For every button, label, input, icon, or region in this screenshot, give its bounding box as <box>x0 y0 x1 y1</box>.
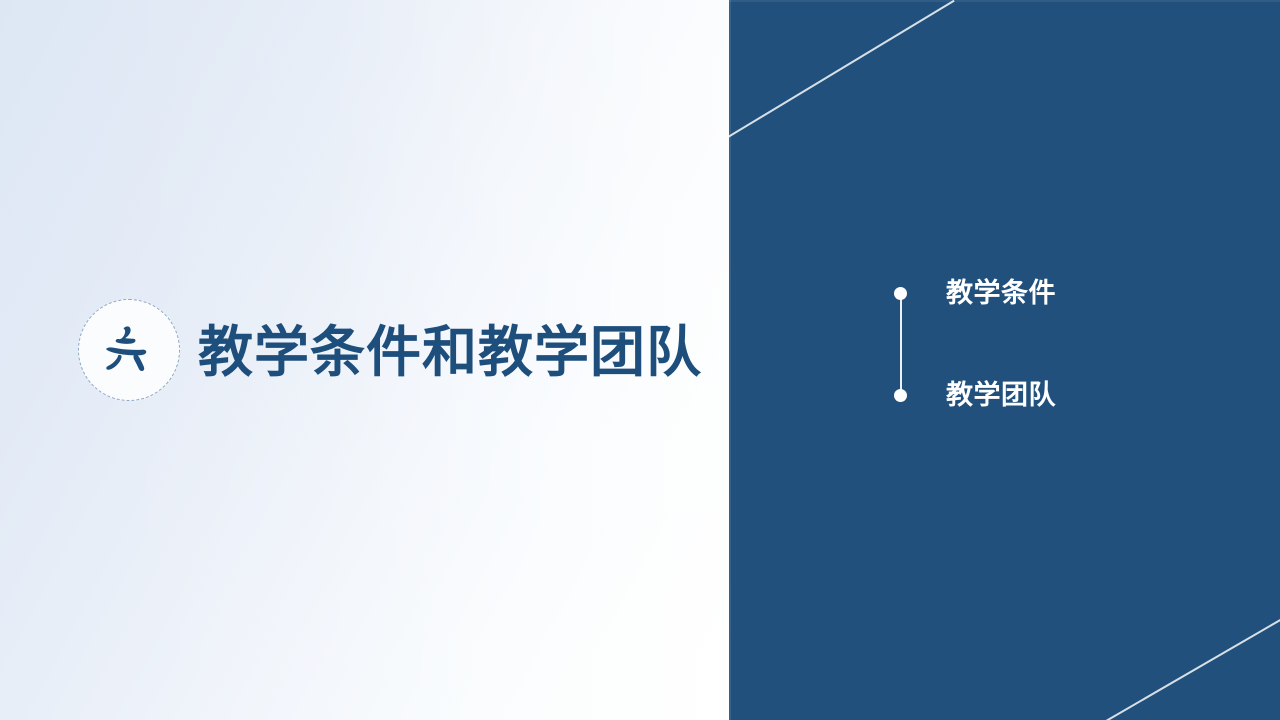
right-agenda-panel: 教学条件 教学团队 <box>729 0 1280 720</box>
bullet-dot-icon <box>894 389 907 402</box>
slide-canvas: 教学条件和教学团队 教学条件 教学团队 <box>0 0 1280 720</box>
agenda-item-label: 教学团队 <box>946 382 1056 409</box>
panel-left-edge-highlight <box>729 0 731 720</box>
section-number-badge <box>78 299 180 401</box>
bullet-dot-icon <box>894 287 907 300</box>
diagonal-line-bottom-decoration <box>1106 619 1280 720</box>
panel-top-edge-highlight <box>729 0 1280 2</box>
agenda-item-2[interactable]: 教学团队 <box>894 384 1056 406</box>
agenda-item-1[interactable]: 教学条件 <box>894 282 1056 304</box>
agenda-item-label: 教学条件 <box>946 280 1056 307</box>
slide-title: 教学条件和教学团队 <box>198 316 702 388</box>
agenda-connector-line <box>900 293 902 395</box>
six-calligraphy-icon <box>78 299 180 401</box>
diagonal-line-top-decoration <box>729 0 954 137</box>
